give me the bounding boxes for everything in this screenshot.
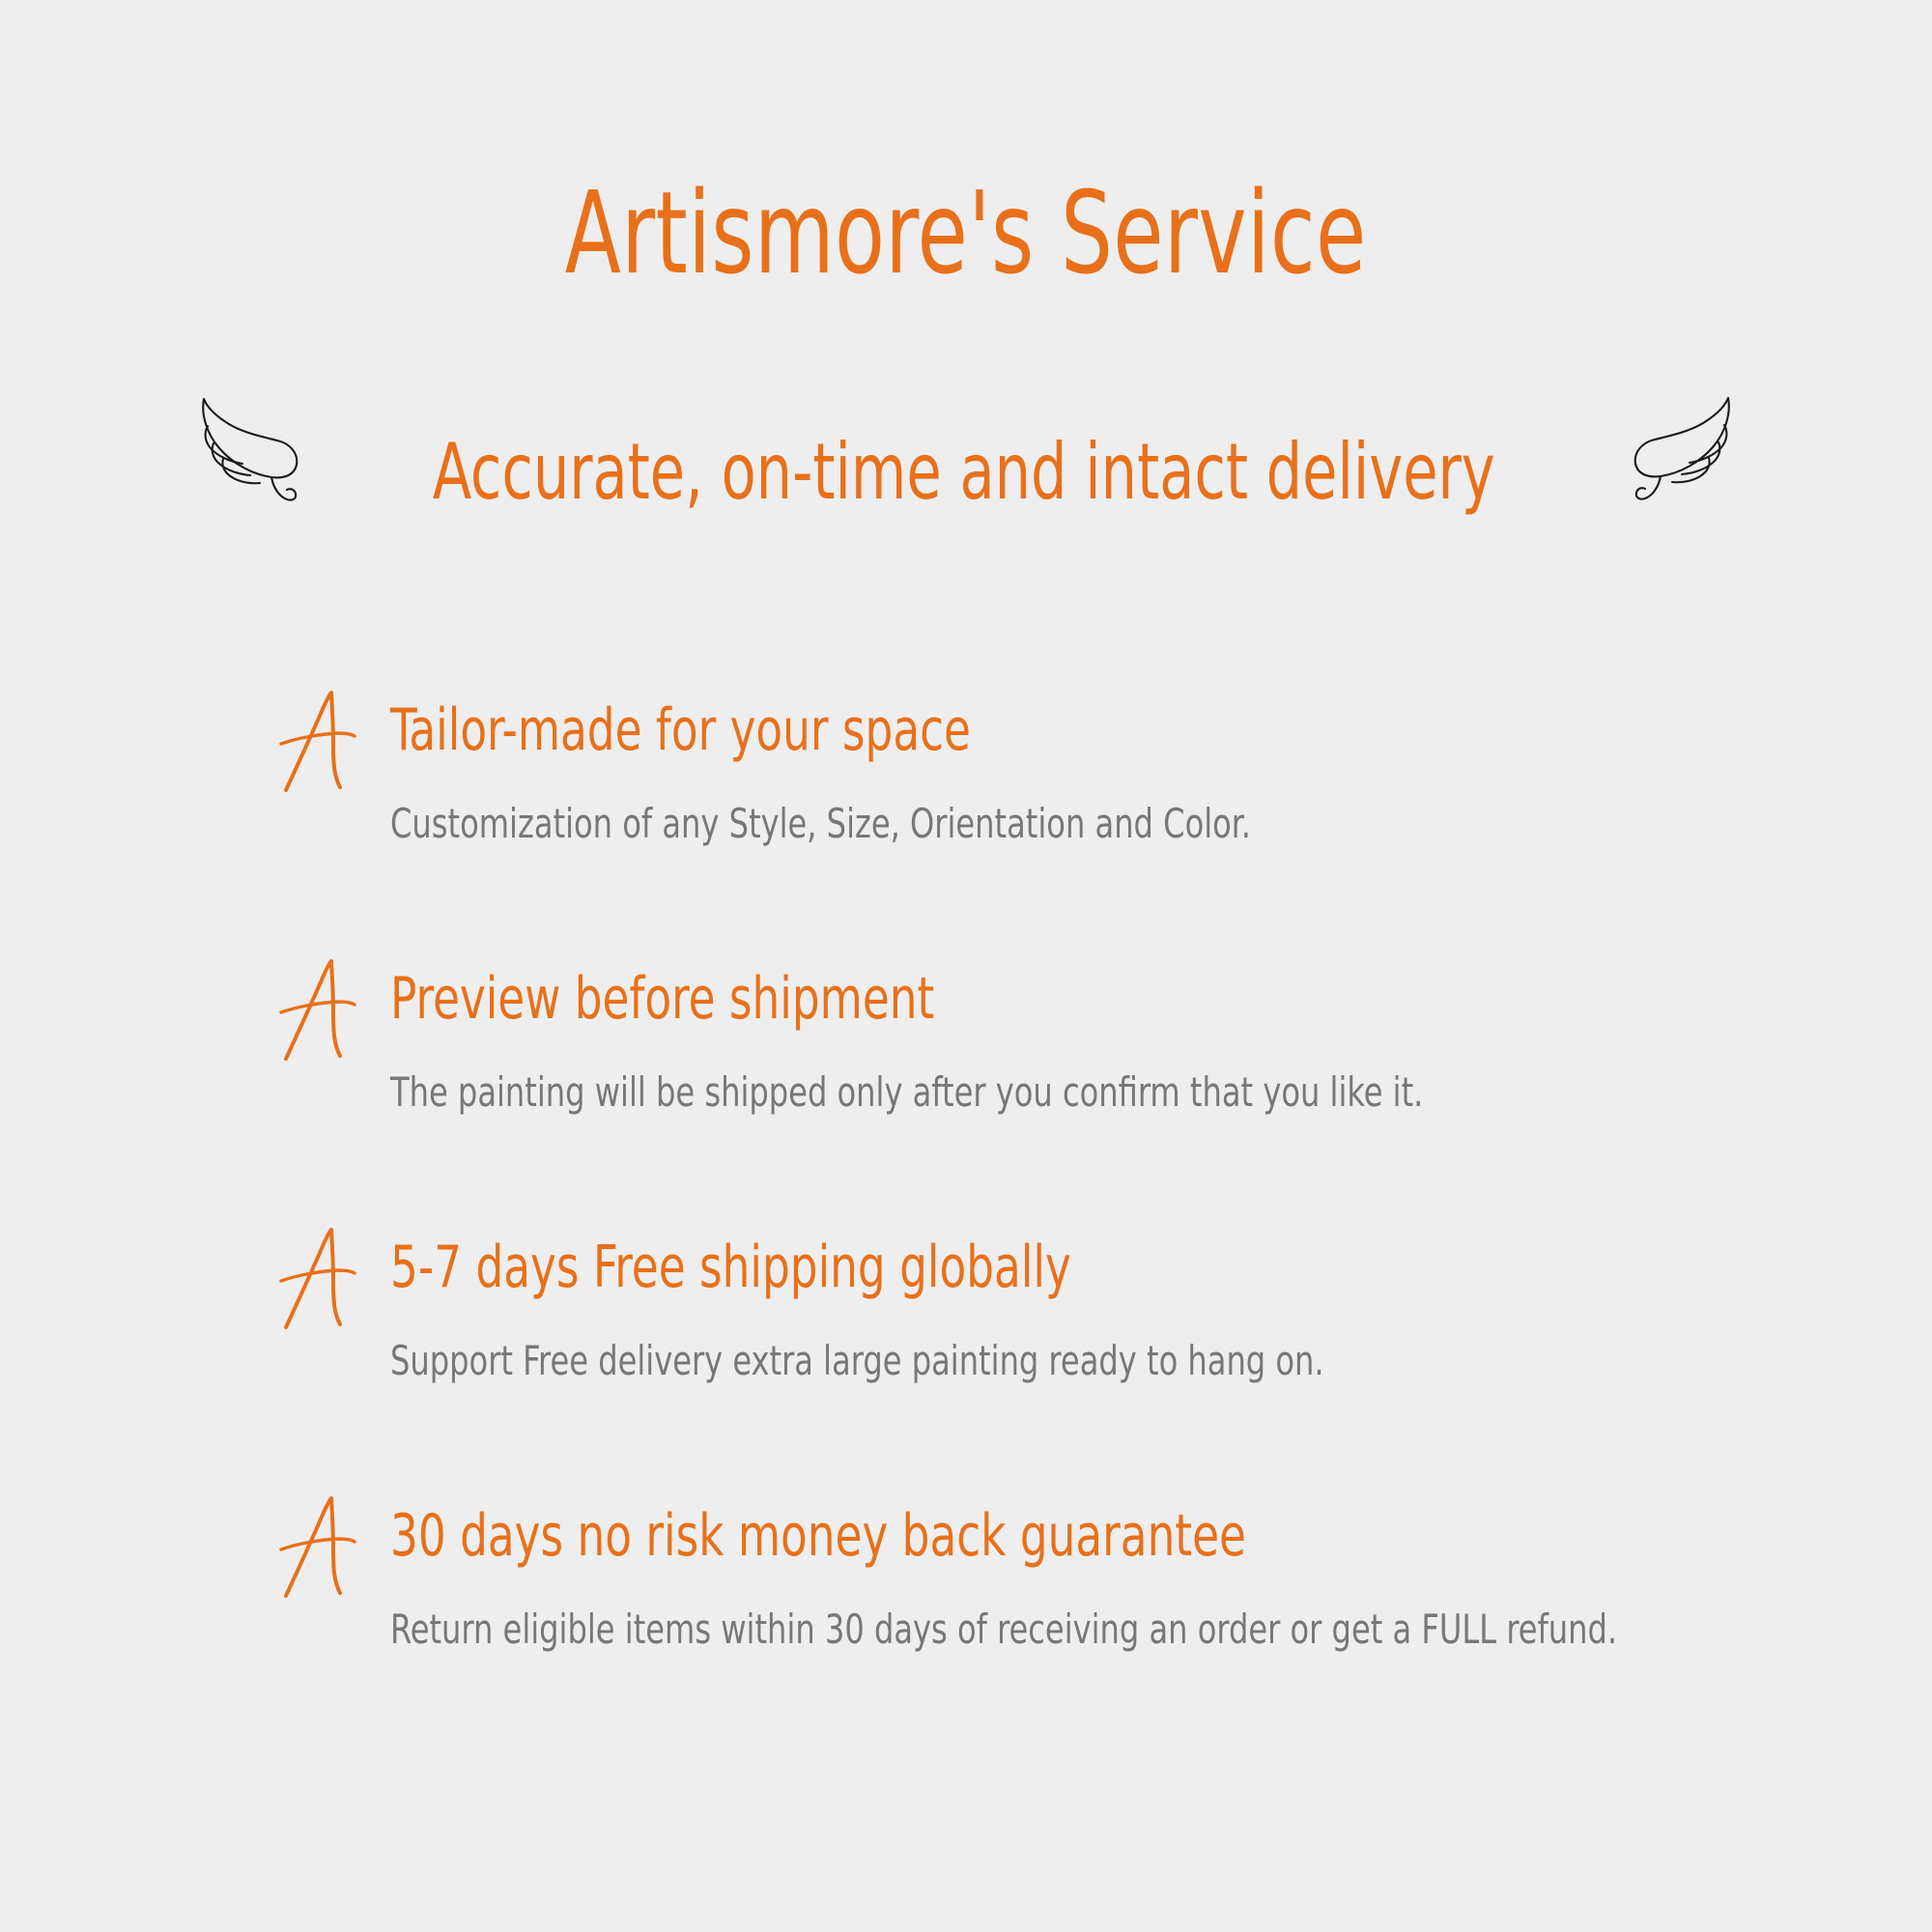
feature-title: 30 days no risk money back guarantee <box>390 1507 1246 1565</box>
feature-description: Customization of any Style, Size, Orient… <box>390 804 1251 844</box>
subtitle-block: Accurate, on-time and intact delivery <box>0 386 1932 558</box>
wing-icon-left <box>190 387 306 513</box>
feature-title: Tailor-made for your space <box>390 701 971 759</box>
feature-item: Tailor-made for your space Customization… <box>0 697 1932 966</box>
feature-item: 5-7 days Free shipping globally Support … <box>0 1235 1932 1503</box>
script-a-icon <box>278 1495 361 1602</box>
service-promo-page: Artismore's Service Accurate, on-time an… <box>0 0 1932 1932</box>
page-title: Artismore's Service <box>565 176 1367 290</box>
feature-list: Tailor-made for your space Customization… <box>0 697 1932 1772</box>
script-a-icon <box>278 1227 361 1333</box>
feature-item: Preview before shipment The painting wil… <box>0 966 1932 1235</box>
feature-item: 30 days no risk money back guarantee Ret… <box>0 1503 1932 1772</box>
page-subtitle: Accurate, on-time and intact delivery <box>433 434 1495 511</box>
feature-description: The painting will be shipped only after … <box>390 1072 1423 1113</box>
feature-title: Preview before shipment <box>390 970 934 1028</box>
wing-icon-right <box>1626 386 1742 512</box>
feature-title: 5-7 days Free shipping globally <box>390 1238 1071 1296</box>
script-a-icon <box>278 958 361 1065</box>
feature-description: Support Free delivery extra large painti… <box>390 1341 1324 1381</box>
page-title-block: Artismore's Service <box>0 176 1932 290</box>
script-a-icon <box>278 690 361 796</box>
feature-description: Return eligible items within 30 days of … <box>390 1609 1617 1650</box>
